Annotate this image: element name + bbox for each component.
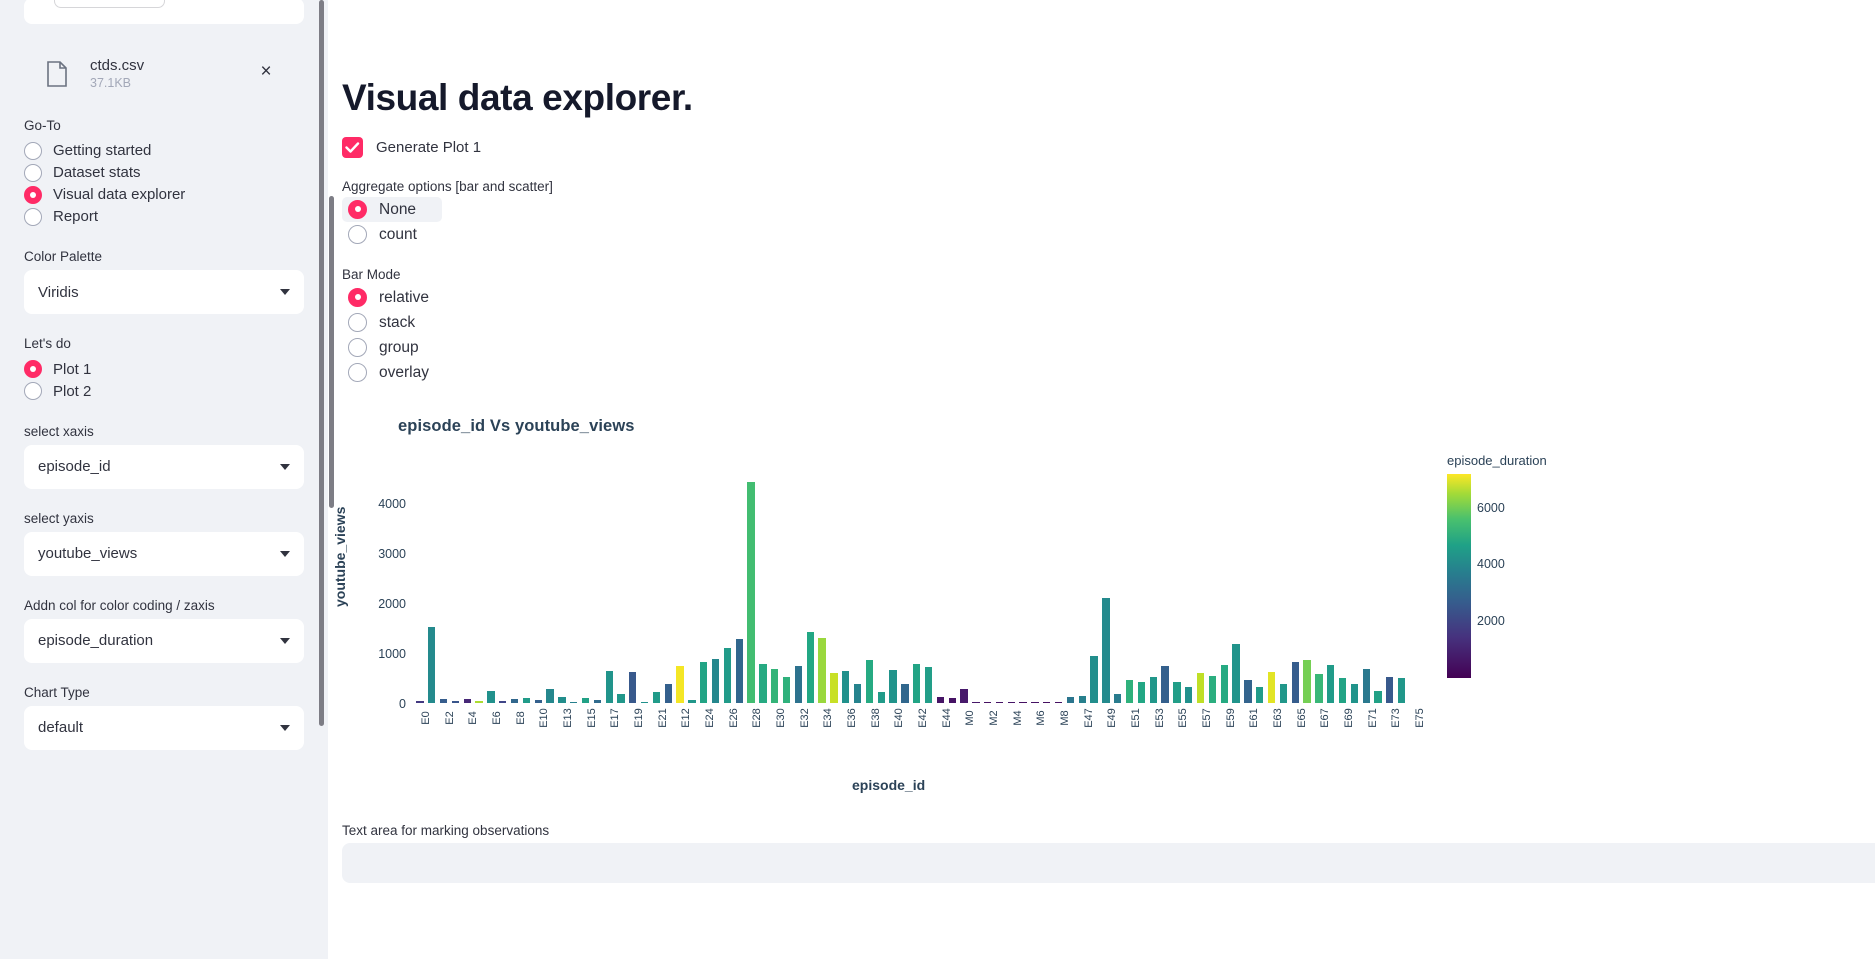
radio-label: count <box>379 222 417 247</box>
bar[interactable] <box>889 670 896 704</box>
x-axis-tick: E15 <box>586 708 598 728</box>
radio-label: None <box>379 197 416 222</box>
bar-cell[interactable] <box>781 479 793 704</box>
chart-xlabel: episode_id <box>852 777 925 793</box>
bar-cell[interactable] <box>745 479 757 704</box>
bar-mode-option-group[interactable]: group <box>342 335 425 360</box>
bar[interactable] <box>1126 680 1133 704</box>
bar-cell[interactable] <box>414 479 426 704</box>
bar-cell[interactable] <box>710 479 722 704</box>
close-icon[interactable]: × <box>256 62 276 82</box>
bar-cell[interactable] <box>1088 479 1100 704</box>
bar-cell[interactable] <box>1065 479 1077 704</box>
x-axis-tick: E17 <box>609 708 621 728</box>
x-axis-tick: E34 <box>822 708 834 728</box>
bar-cell[interactable] <box>887 479 899 704</box>
bar-cell[interactable] <box>1384 479 1396 704</box>
x-axis-tick: E47 <box>1083 708 1095 728</box>
radio-label: group <box>379 335 419 360</box>
bar-cell[interactable] <box>509 479 521 704</box>
bar-cell[interactable] <box>1396 479 1408 704</box>
color-palette-select[interactable]: Viridis <box>24 270 304 314</box>
zaxis-select[interactable]: episode_duration <box>24 619 304 663</box>
bar-series <box>414 479 1408 704</box>
bar-cell[interactable] <box>603 479 615 704</box>
x-axis-tick: E6 <box>491 711 503 724</box>
bar-cell[interactable] <box>580 479 592 704</box>
bar[interactable] <box>842 671 849 704</box>
generate-plot-checkbox-row[interactable]: Generate Plot 1 <box>342 137 1875 159</box>
bar-cell[interactable] <box>958 479 970 704</box>
x-axis-tick: E59 <box>1225 708 1237 728</box>
bar-cell[interactable] <box>911 479 923 704</box>
colorbar-tick: 6000 <box>1477 501 1505 515</box>
x-axis-tick: E38 <box>870 708 882 728</box>
bar[interactable] <box>546 689 553 704</box>
bar-cell[interactable] <box>1112 479 1124 704</box>
bar-cell[interactable] <box>757 479 769 704</box>
bar-cell[interactable] <box>615 479 627 704</box>
sidebar-scrollbar[interactable] <box>319 0 324 726</box>
x-axis-tick: E10 <box>538 708 550 728</box>
x-axis-tick: E51 <box>1130 708 1142 728</box>
bar[interactable] <box>1315 674 1322 704</box>
bar-cell[interactable] <box>769 479 781 704</box>
bar-cell[interactable] <box>863 479 875 704</box>
bar-cell[interactable] <box>1372 479 1384 704</box>
x-axis-tick: E49 <box>1106 708 1118 728</box>
bar[interactable] <box>818 638 825 704</box>
bar-cell[interactable] <box>1277 479 1289 704</box>
bar-cell[interactable] <box>1136 479 1148 704</box>
bar[interactable] <box>629 672 636 704</box>
bar-cell[interactable] <box>639 479 651 704</box>
sidebar-item-visual-data-explorer[interactable]: Visual data explorer <box>24 184 304 205</box>
file-name: ctds.csv <box>90 57 144 74</box>
lets-do-group-label: Let's do <box>24 334 304 354</box>
plot-area: 01000200030004000 E0E2E4E6E8E10E13E15E17… <box>414 479 1408 704</box>
chart-type-select[interactable]: default <box>24 706 304 750</box>
main-content: Visual data explorer. Generate Plot 1 Ag… <box>328 0 1875 959</box>
bar-cell[interactable] <box>1301 479 1313 704</box>
x-axis-tick: M4 <box>1012 710 1024 725</box>
chevron-down-icon[interactable] <box>280 725 290 731</box>
xaxis-select[interactable]: episode_id <box>24 445 304 489</box>
bar[interactable] <box>1244 680 1251 704</box>
main-inner: Visual data explorer. Generate Plot 1 Ag… <box>328 78 1875 883</box>
chevron-down-icon[interactable] <box>280 464 290 470</box>
bar-cell[interactable] <box>426 479 438 704</box>
x-axis-tick: E42 <box>917 708 929 728</box>
x-axis-tick: E36 <box>846 708 858 728</box>
checkbox-checked-icon[interactable] <box>342 137 363 158</box>
colorbar-tick: 2000 <box>1477 614 1505 628</box>
x-axis-tick: E67 <box>1319 708 1331 728</box>
bar-cell[interactable] <box>674 479 686 704</box>
x-axis-tick: E71 <box>1367 708 1379 728</box>
bar-cell[interactable] <box>686 479 698 704</box>
zaxis-value: episode_duration <box>38 632 153 649</box>
radio-icon-selected[interactable] <box>24 360 42 378</box>
radio-label: overlay <box>379 360 429 385</box>
radio-icon-selected[interactable] <box>24 186 42 204</box>
x-axis-tick: E65 <box>1296 708 1308 728</box>
radio-icon[interactable] <box>348 225 367 244</box>
bar[interactable] <box>606 671 613 704</box>
bar[interactable] <box>736 639 743 704</box>
x-axis-tick: E0 <box>420 711 432 724</box>
bar-cell[interactable] <box>449 479 461 704</box>
bar[interactable] <box>1161 666 1168 704</box>
radio-label: Dataset stats <box>53 162 141 183</box>
radio-icon[interactable] <box>24 208 42 226</box>
bar-cell[interactable] <box>1159 479 1171 704</box>
bar-cell[interactable] <box>982 479 994 704</box>
y-axis-tick: 0 <box>399 697 406 711</box>
bar-cell[interactable] <box>923 479 935 704</box>
x-axis-tick: E26 <box>728 708 740 728</box>
bar[interactable] <box>1398 678 1405 704</box>
radio-label: Getting started <box>53 140 151 161</box>
bar[interactable] <box>428 627 435 704</box>
bar[interactable] <box>866 660 873 704</box>
radio-icon[interactable] <box>24 142 42 160</box>
file-meta: ctds.csv 37.1KB <box>90 57 144 91</box>
bar-cell[interactable] <box>1206 479 1218 704</box>
radio-label: Report <box>53 206 98 227</box>
radio-icon[interactable] <box>348 313 367 332</box>
bar-cell[interactable] <box>1183 479 1195 704</box>
y-axis-tick: 3000 <box>378 547 406 561</box>
bar-cell[interactable] <box>1041 479 1053 704</box>
bar-mode-label: Bar Mode <box>342 267 1875 282</box>
x-axis-tick: E53 <box>1154 708 1166 728</box>
bar-chart: episode_id Vs youtube_views youtube_view… <box>342 407 1822 807</box>
x-axis-tick: E4 <box>467 711 479 724</box>
bar-cell[interactable] <box>828 479 840 704</box>
bar-cell[interactable] <box>698 479 710 704</box>
bar-cell[interactable] <box>556 479 568 704</box>
generate-plot-label: Generate Plot 1 <box>376 139 481 156</box>
yaxis-value: youtube_views <box>38 545 137 562</box>
x-axis-tick: E40 <box>893 708 905 728</box>
bar[interactable] <box>1138 682 1145 704</box>
bar-cell[interactable] <box>1325 479 1337 704</box>
bar-cell[interactable] <box>793 479 805 704</box>
y-axis-tick: 2000 <box>378 597 406 611</box>
bar-cell[interactable] <box>1218 479 1230 704</box>
bar-cell[interactable] <box>1337 479 1349 704</box>
colorbar-tick: 4000 <box>1477 557 1505 571</box>
bar-cell[interactable] <box>1029 479 1041 704</box>
xaxis-label: select xaxis <box>24 424 304 439</box>
bar[interactable] <box>901 684 908 704</box>
bar[interactable] <box>1232 644 1239 704</box>
x-axis-tick: E13 <box>562 708 574 728</box>
bar[interactable] <box>1090 656 1097 704</box>
radio-icon[interactable] <box>24 164 42 182</box>
colorbar-gradient: 200040006000 <box>1447 474 1471 678</box>
bar[interactable] <box>1221 665 1228 704</box>
x-axis-tick: E24 <box>704 708 716 728</box>
bar-cell[interactable] <box>1171 479 1183 704</box>
yaxis-label: select yaxis <box>24 511 304 526</box>
x-axis-tick: E8 <box>515 711 527 724</box>
x-axis-tick: M6 <box>1035 710 1047 725</box>
bar[interactable] <box>1292 662 1299 704</box>
bar-cell[interactable] <box>1124 479 1136 704</box>
bar[interactable] <box>1351 684 1358 704</box>
x-axis-tick: E32 <box>799 708 811 728</box>
bar-cell[interactable] <box>520 479 532 704</box>
aggregate-options-label: Aggregate options [bar and scatter] <box>342 179 1875 194</box>
y-axis-tick: 1000 <box>378 647 406 661</box>
color-palette-label: Color Palette <box>24 249 304 264</box>
xaxis-value: episode_id <box>38 458 111 475</box>
bar[interactable] <box>665 684 672 704</box>
bar[interactable] <box>1197 673 1204 704</box>
x-axis-tick: E30 <box>775 708 787 728</box>
page-title: Visual data explorer. <box>342 78 1875 119</box>
bar[interactable] <box>1185 687 1192 704</box>
chevron-down-icon[interactable] <box>280 289 290 295</box>
x-axis-tick: E19 <box>633 708 645 728</box>
chevron-down-icon[interactable] <box>280 551 290 557</box>
x-axis-tick: E44 <box>941 708 953 728</box>
browse-files-button[interactable]: Browse files <box>54 0 165 8</box>
color-palette-value: Viridis <box>38 284 79 301</box>
bar[interactable] <box>1327 665 1334 704</box>
bar[interactable] <box>771 669 778 704</box>
aggregate-option-none[interactable]: None <box>342 197 442 222</box>
file-uploader-card: Browse files <box>24 0 304 24</box>
bar[interactable] <box>783 677 790 704</box>
bar-cell[interactable] <box>473 479 485 704</box>
bar-cell[interactable] <box>1230 479 1242 704</box>
bar-cell[interactable] <box>1313 479 1325 704</box>
x-axis-tick: E55 <box>1177 708 1189 728</box>
x-axis-tick: E73 <box>1390 708 1402 728</box>
chevron-down-icon[interactable] <box>280 638 290 644</box>
bar-cell[interactable] <box>970 479 982 704</box>
bar-cell[interactable] <box>899 479 911 704</box>
bar-cell[interactable] <box>1005 479 1017 704</box>
bar-cell[interactable] <box>651 479 663 704</box>
bar-cell[interactable] <box>485 479 497 704</box>
bar[interactable] <box>795 666 802 704</box>
bar-cell[interactable] <box>627 479 639 704</box>
bar-mode-option-overlay[interactable]: overlay <box>342 360 435 385</box>
bar-cell[interactable] <box>1266 479 1278 704</box>
bar[interactable] <box>1268 672 1275 704</box>
bar-cell[interactable] <box>875 479 887 704</box>
bar[interactable] <box>1363 669 1370 704</box>
bar-mode-radio-group: relative stack group overlay <box>342 285 1875 385</box>
chart-title: episode_id Vs youtube_views <box>398 417 635 436</box>
chart-type-value: default <box>38 719 83 736</box>
bar[interactable] <box>724 648 731 704</box>
lets-do-radio-group: Plot 1 Plot 2 <box>24 359 304 402</box>
bar-cell[interactable] <box>840 479 852 704</box>
bar[interactable] <box>676 666 683 704</box>
bar[interactable] <box>913 664 920 704</box>
file-icon <box>46 61 68 87</box>
bar-cell[interactable] <box>1017 479 1029 704</box>
sidebar: Browse files ctds.csv 37.1KB × Go-To Get… <box>0 0 328 959</box>
bar-cell[interactable] <box>1076 479 1088 704</box>
sidebar-item-report[interactable]: Report <box>24 206 304 227</box>
x-axis-tick: E28 <box>751 708 763 728</box>
bar-cell[interactable] <box>662 479 674 704</box>
bar[interactable] <box>830 673 837 704</box>
bar[interactable] <box>1102 598 1109 704</box>
bar-cell[interactable] <box>1147 479 1159 704</box>
x-axis-tick: M0 <box>964 710 976 725</box>
main-scrollbar[interactable] <box>329 196 334 508</box>
x-axis-tick: E75 <box>1414 708 1426 728</box>
bar-cell[interactable] <box>1100 479 1112 704</box>
bar-cell[interactable] <box>733 479 745 704</box>
bar-cell[interactable] <box>946 479 958 704</box>
bar-cell[interactable] <box>568 479 580 704</box>
yaxis-select[interactable]: youtube_views <box>24 532 304 576</box>
bar-cell[interactable] <box>1289 479 1301 704</box>
sidebar-item-plot-1[interactable]: Plot 1 <box>24 359 304 380</box>
bar-cell[interactable] <box>591 479 603 704</box>
x-axis-tick: E21 <box>657 708 669 728</box>
bar-cell[interactable] <box>532 479 544 704</box>
chart-type-label: Chart Type <box>24 685 304 700</box>
bar-mode-option-relative[interactable]: relative <box>342 285 435 310</box>
uploaded-file-row: ctds.csv 37.1KB × <box>24 52 304 96</box>
bar-cell[interactable] <box>934 479 946 704</box>
x-axis-tick: M2 <box>988 710 1000 725</box>
bar[interactable] <box>1256 687 1263 704</box>
sidebar-item-dataset-stats[interactable]: Dataset stats <box>24 162 304 183</box>
bar-cell[interactable] <box>1195 479 1207 704</box>
bar-mode-option-stack[interactable]: stack <box>342 310 421 335</box>
observations-textarea[interactable] <box>342 843 1875 883</box>
file-size: 37.1KB <box>90 75 144 91</box>
x-axis-tick: E63 <box>1272 708 1284 728</box>
radio-icon[interactable] <box>24 382 42 400</box>
bar[interactable] <box>747 482 754 704</box>
bar-cell[interactable] <box>722 479 734 704</box>
x-axis-tick: E12 <box>680 708 692 728</box>
goto-radio-group: Getting started Dataset stats Visual dat… <box>24 140 304 227</box>
bar-cell[interactable] <box>1348 479 1360 704</box>
bar[interactable] <box>1339 678 1346 704</box>
bar-cell[interactable] <box>1053 479 1065 704</box>
x-axis-tick: E2 <box>444 711 456 724</box>
x-axis-tick: M8 <box>1059 710 1071 725</box>
bar[interactable] <box>712 659 719 704</box>
radio-label: Visual data explorer <box>53 184 185 205</box>
sidebar-item-getting-started[interactable]: Getting started <box>24 140 304 161</box>
bar[interactable] <box>1280 684 1287 704</box>
sidebar-item-plot-2[interactable]: Plot 2 <box>24 381 304 402</box>
bar-cell[interactable] <box>1360 479 1372 704</box>
bar-cell[interactable] <box>1242 479 1254 704</box>
bar-cell[interactable] <box>852 479 864 704</box>
radio-label: relative <box>379 285 429 310</box>
bar-cell[interactable] <box>1254 479 1266 704</box>
bar-cell[interactable] <box>816 479 828 704</box>
bar-cell[interactable] <box>461 479 473 704</box>
x-axis-line <box>414 703 1408 704</box>
bar[interactable] <box>1303 660 1310 704</box>
bar-cell[interactable] <box>994 479 1006 704</box>
x-axis-tick: E57 <box>1201 708 1213 728</box>
x-axis-tick: E69 <box>1343 708 1355 728</box>
radio-icon-selected[interactable] <box>348 200 367 219</box>
colorbar-legend: episode_duration 200040006000 <box>1447 453 1547 678</box>
colorbar-title: episode_duration <box>1447 453 1547 468</box>
bar[interactable] <box>1209 676 1216 704</box>
chart-ylabel: youtube_views <box>332 506 348 606</box>
radio-icon-selected[interactable] <box>348 288 367 307</box>
radio-icon[interactable] <box>348 363 367 382</box>
bar-cell[interactable] <box>804 479 816 704</box>
radio-icon[interactable] <box>348 338 367 357</box>
radio-label: Plot 2 <box>53 381 91 402</box>
bar-cell[interactable] <box>497 479 509 704</box>
app-root: Browse files ctds.csv 37.1KB × Go-To Get… <box>0 0 1875 959</box>
goto-group-label: Go-To <box>24 116 304 136</box>
bar[interactable] <box>854 684 861 704</box>
radio-label: Plot 1 <box>53 359 91 380</box>
zaxis-label: Addn col for color coding / zaxis <box>24 598 304 613</box>
bar[interactable] <box>960 689 967 704</box>
bar-cell[interactable] <box>544 479 556 704</box>
aggregate-option-count[interactable]: count <box>342 222 423 247</box>
bar[interactable] <box>700 662 707 704</box>
bar-cell[interactable] <box>438 479 450 704</box>
bar[interactable] <box>1173 682 1180 704</box>
bar[interactable] <box>1386 677 1393 704</box>
bar[interactable] <box>1150 677 1157 704</box>
y-axis-tick: 4000 <box>378 497 406 511</box>
observations-label: Text area for marking observations <box>342 823 1875 838</box>
aggregate-radio-group: None count <box>342 197 1875 247</box>
x-axis-tick: E61 <box>1248 708 1260 728</box>
radio-label: stack <box>379 310 415 335</box>
bar[interactable] <box>807 632 814 704</box>
bar[interactable] <box>759 664 766 704</box>
bar[interactable] <box>925 667 932 704</box>
